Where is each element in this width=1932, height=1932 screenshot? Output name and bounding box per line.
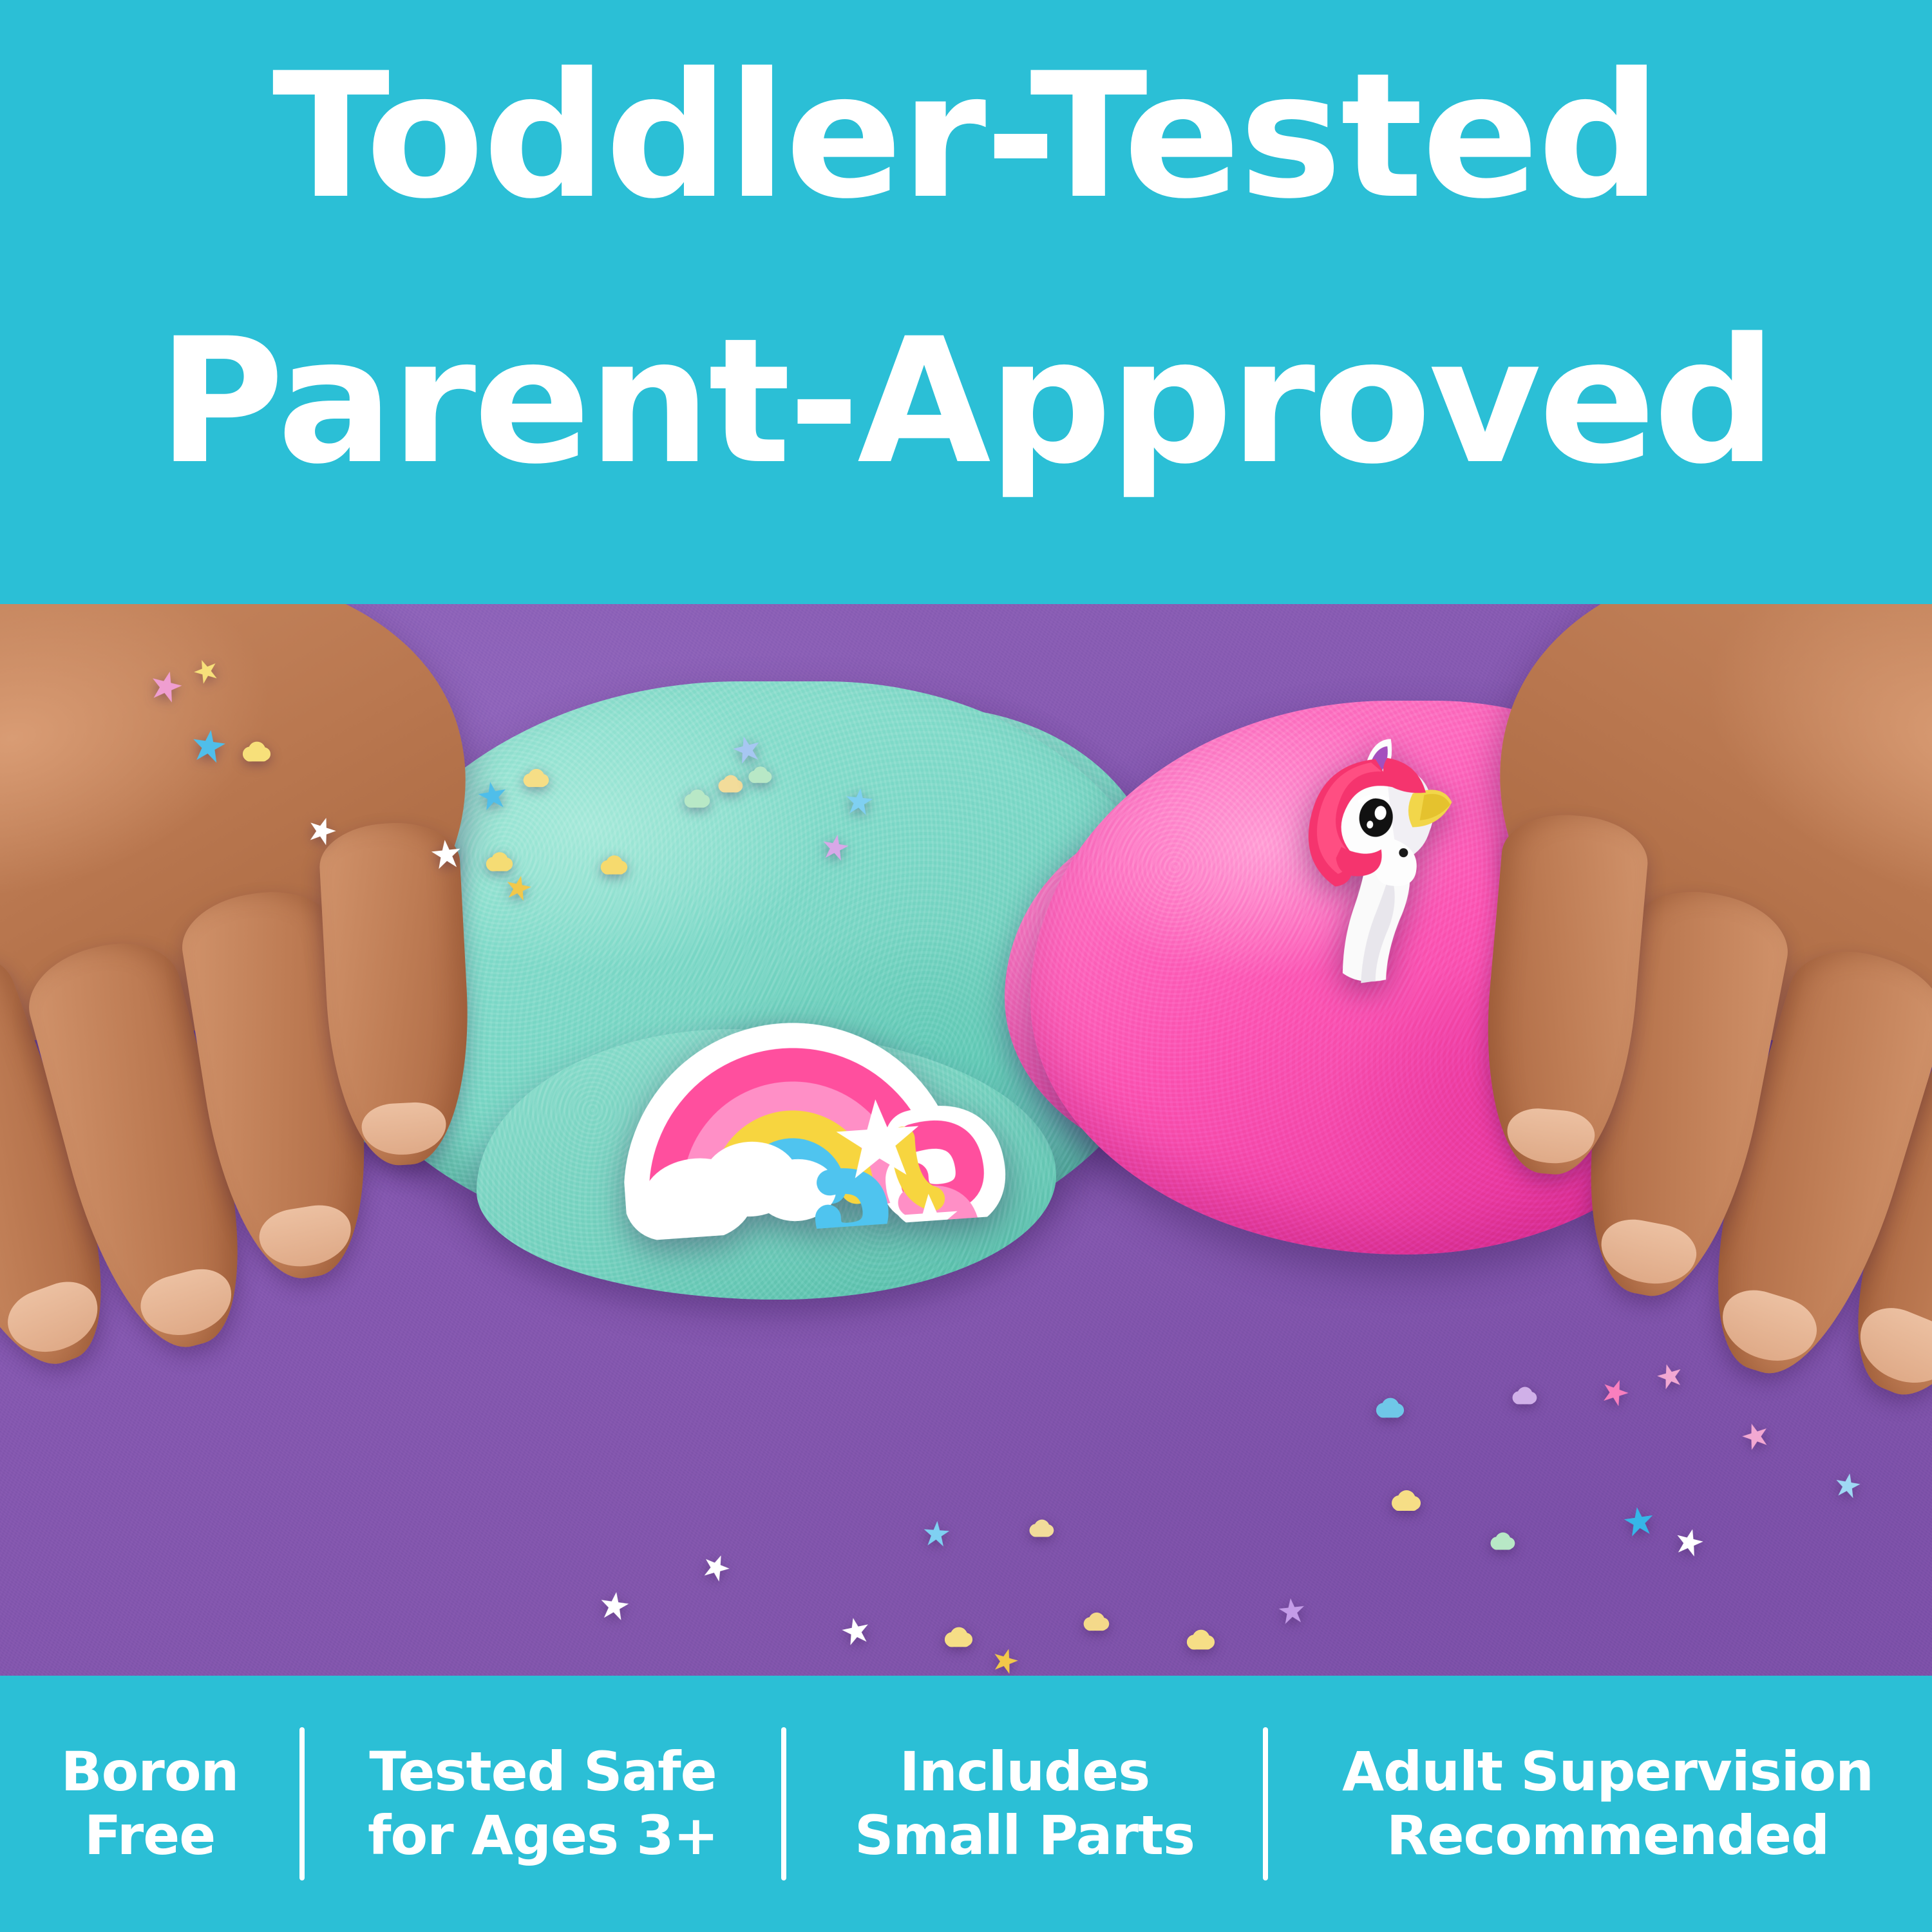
feature-divider-3 <box>1263 1727 1268 1880</box>
feature-adult-supervision: Adult Supervision Recommended <box>1268 1740 1932 1868</box>
headline-line-1: Toddler-Tested <box>0 50 1932 223</box>
sprinkle-cloud <box>717 770 744 797</box>
feature-includes-small-parts: Includes Small Parts <box>786 1740 1263 1868</box>
sprinkle-cloud <box>1082 1607 1110 1636</box>
fingernail <box>1595 1213 1701 1292</box>
sprinkle-cloud <box>241 736 272 767</box>
sprinkle-cloud <box>1028 1515 1055 1542</box>
fingernail <box>1849 1298 1932 1396</box>
sprinkle-star <box>922 1519 952 1549</box>
sprinkle-star <box>1276 1596 1307 1627</box>
sprinkle-star <box>429 837 464 873</box>
sprinkle-cloud <box>599 850 629 880</box>
sprinkle-cloud <box>1185 1624 1216 1655</box>
sprinkle-star <box>843 786 876 819</box>
sprinkle-cloud <box>1374 1392 1405 1423</box>
headline-line-2: Parent-Approved <box>0 316 1932 488</box>
feature-divider-1 <box>299 1727 305 1880</box>
sprinkle-star <box>819 831 852 864</box>
fingernail <box>0 1273 108 1364</box>
fingernail <box>361 1101 448 1157</box>
sprinkle-cloud <box>683 784 711 813</box>
rainbow-charm <box>609 939 1014 1242</box>
feature-divider-2 <box>781 1727 786 1880</box>
sprinkle-cloud <box>1489 1528 1516 1555</box>
sprinkle-cloud <box>522 764 550 792</box>
feature-boron-free: Boron Free <box>0 1740 299 1868</box>
fingernail <box>256 1200 356 1273</box>
sprinkle-star <box>597 1589 632 1624</box>
sprinkle-star <box>1832 1470 1864 1502</box>
sprinkle-cloud <box>1390 1484 1422 1517</box>
sprinkle-star <box>188 726 229 766</box>
headline-banner: Toddler-Tested Parent-Approved <box>0 0 1932 604</box>
product-infographic: Toddler-Tested Parent-Approved <box>0 0 1932 1932</box>
sprinkle-cloud <box>943 1622 974 1653</box>
product-photo <box>0 604 1932 1676</box>
sprinkle-cloud <box>747 762 773 788</box>
sprinkle-star <box>1621 1504 1657 1540</box>
fingernail <box>1504 1106 1596 1167</box>
sprinkle-cloud <box>1511 1382 1538 1409</box>
sprinkle-star <box>502 872 535 904</box>
feature-banner: Boron Free Tested Safe for Ages 3+ Inclu… <box>0 1676 1932 1932</box>
sprinkle-star <box>838 1614 874 1649</box>
feature-tested-safe: Tested Safe for Ages 3+ <box>305 1740 781 1868</box>
sprinkle-star <box>475 778 511 814</box>
